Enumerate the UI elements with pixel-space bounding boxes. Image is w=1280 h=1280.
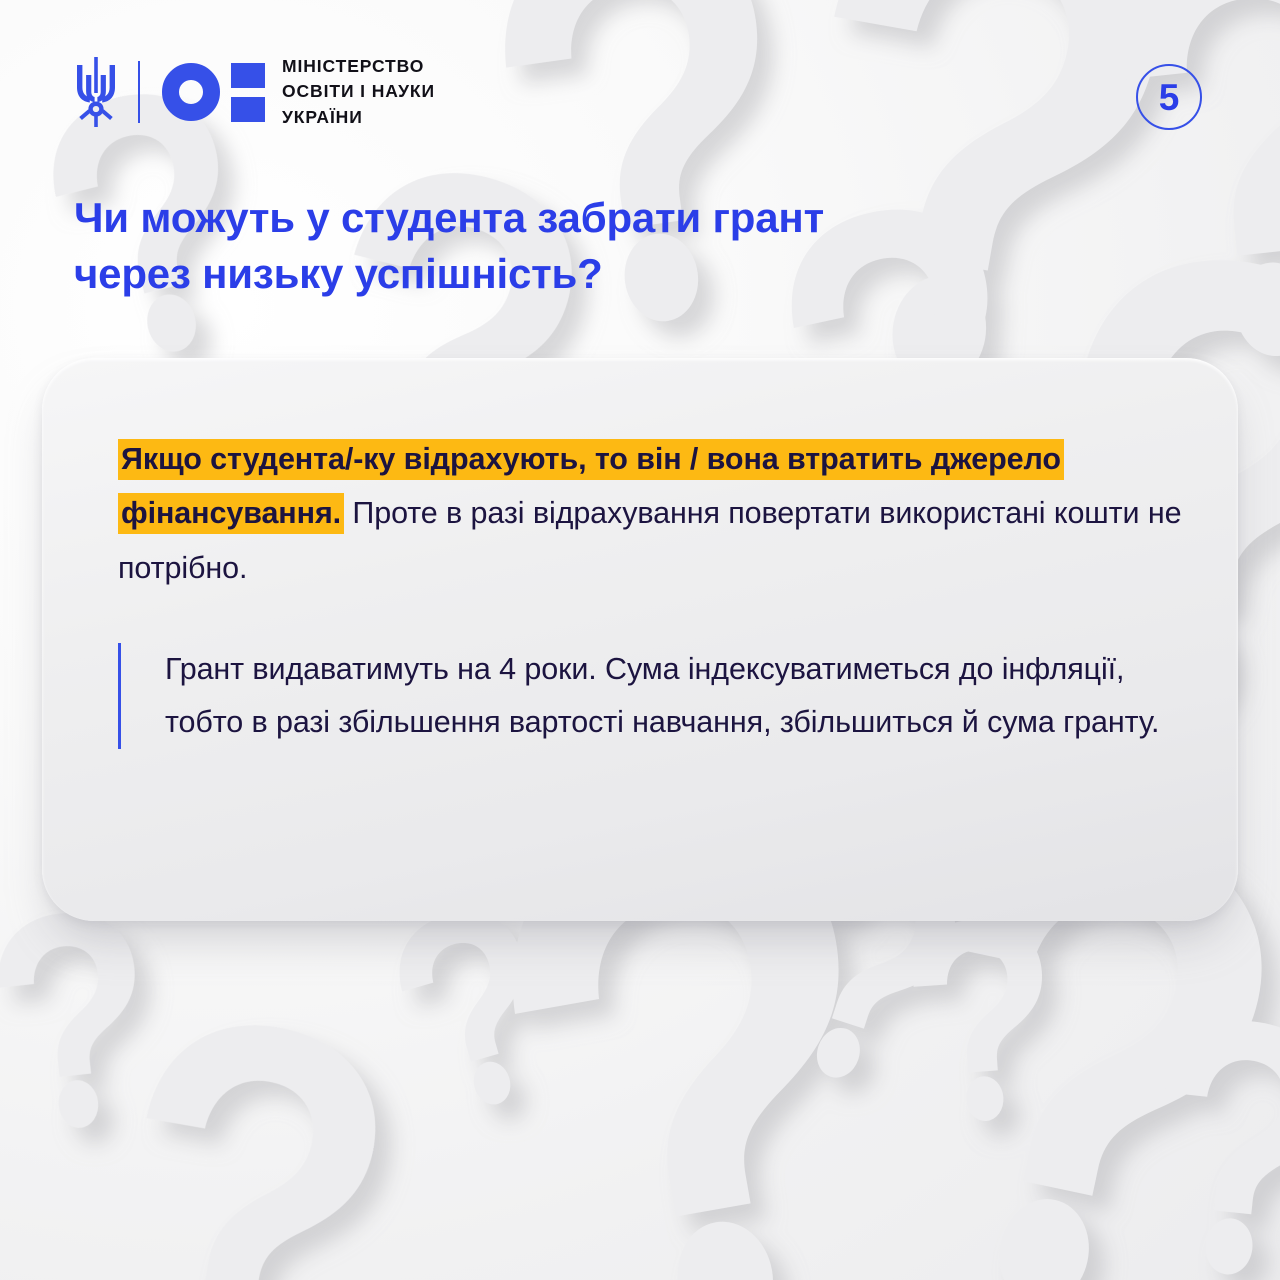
- page-number-badge: 5: [1136, 64, 1202, 130]
- page-title: Чи можуть у студента забрати грант через…: [74, 190, 824, 302]
- logo-square-top: [231, 63, 265, 88]
- ukraine-trident-icon: [74, 55, 118, 129]
- content-card: Якщо студента/-ку відрахують, то він / в…: [42, 358, 1238, 921]
- ministry-logo: МІНІСТЕРСТВО ОСВІТИ І НАУКИ УКРАЇНИ: [74, 55, 435, 129]
- ministry-name: МІНІСТЕРСТВО ОСВІТИ І НАУКИ УКРАЇНИ: [282, 55, 435, 129]
- ministry-line-1: МІНІСТЕРСТВО: [282, 55, 435, 78]
- ministry-line-3: УКРАЇНИ: [282, 106, 435, 129]
- logo-square-bottom: [231, 97, 265, 122]
- quote-paragraph: Грант видаватимуть на 4 роки. Сума індек…: [165, 643, 1182, 749]
- lead-paragraph: Якщо студента/-ку відрахують, то він / в…: [118, 432, 1182, 595]
- page-title-line-2: через низьку успішність?: [74, 250, 603, 297]
- page-header: МІНІСТЕРСТВО ОСВІТИ І НАУКИ УКРАЇНИ 5: [0, 0, 1280, 175]
- logo-divider: [138, 61, 140, 123]
- mon-o-colon-icon: [162, 63, 265, 122]
- ministry-line-2: ОСВІТИ І НАУКИ: [282, 80, 435, 103]
- quote-block: Грант видаватимуть на 4 роки. Сума індек…: [118, 643, 1182, 749]
- logo-ring-icon: [162, 63, 220, 121]
- page-title-line-1: Чи можуть у студента забрати грант: [74, 194, 824, 241]
- logo-squares-icon: [231, 63, 265, 122]
